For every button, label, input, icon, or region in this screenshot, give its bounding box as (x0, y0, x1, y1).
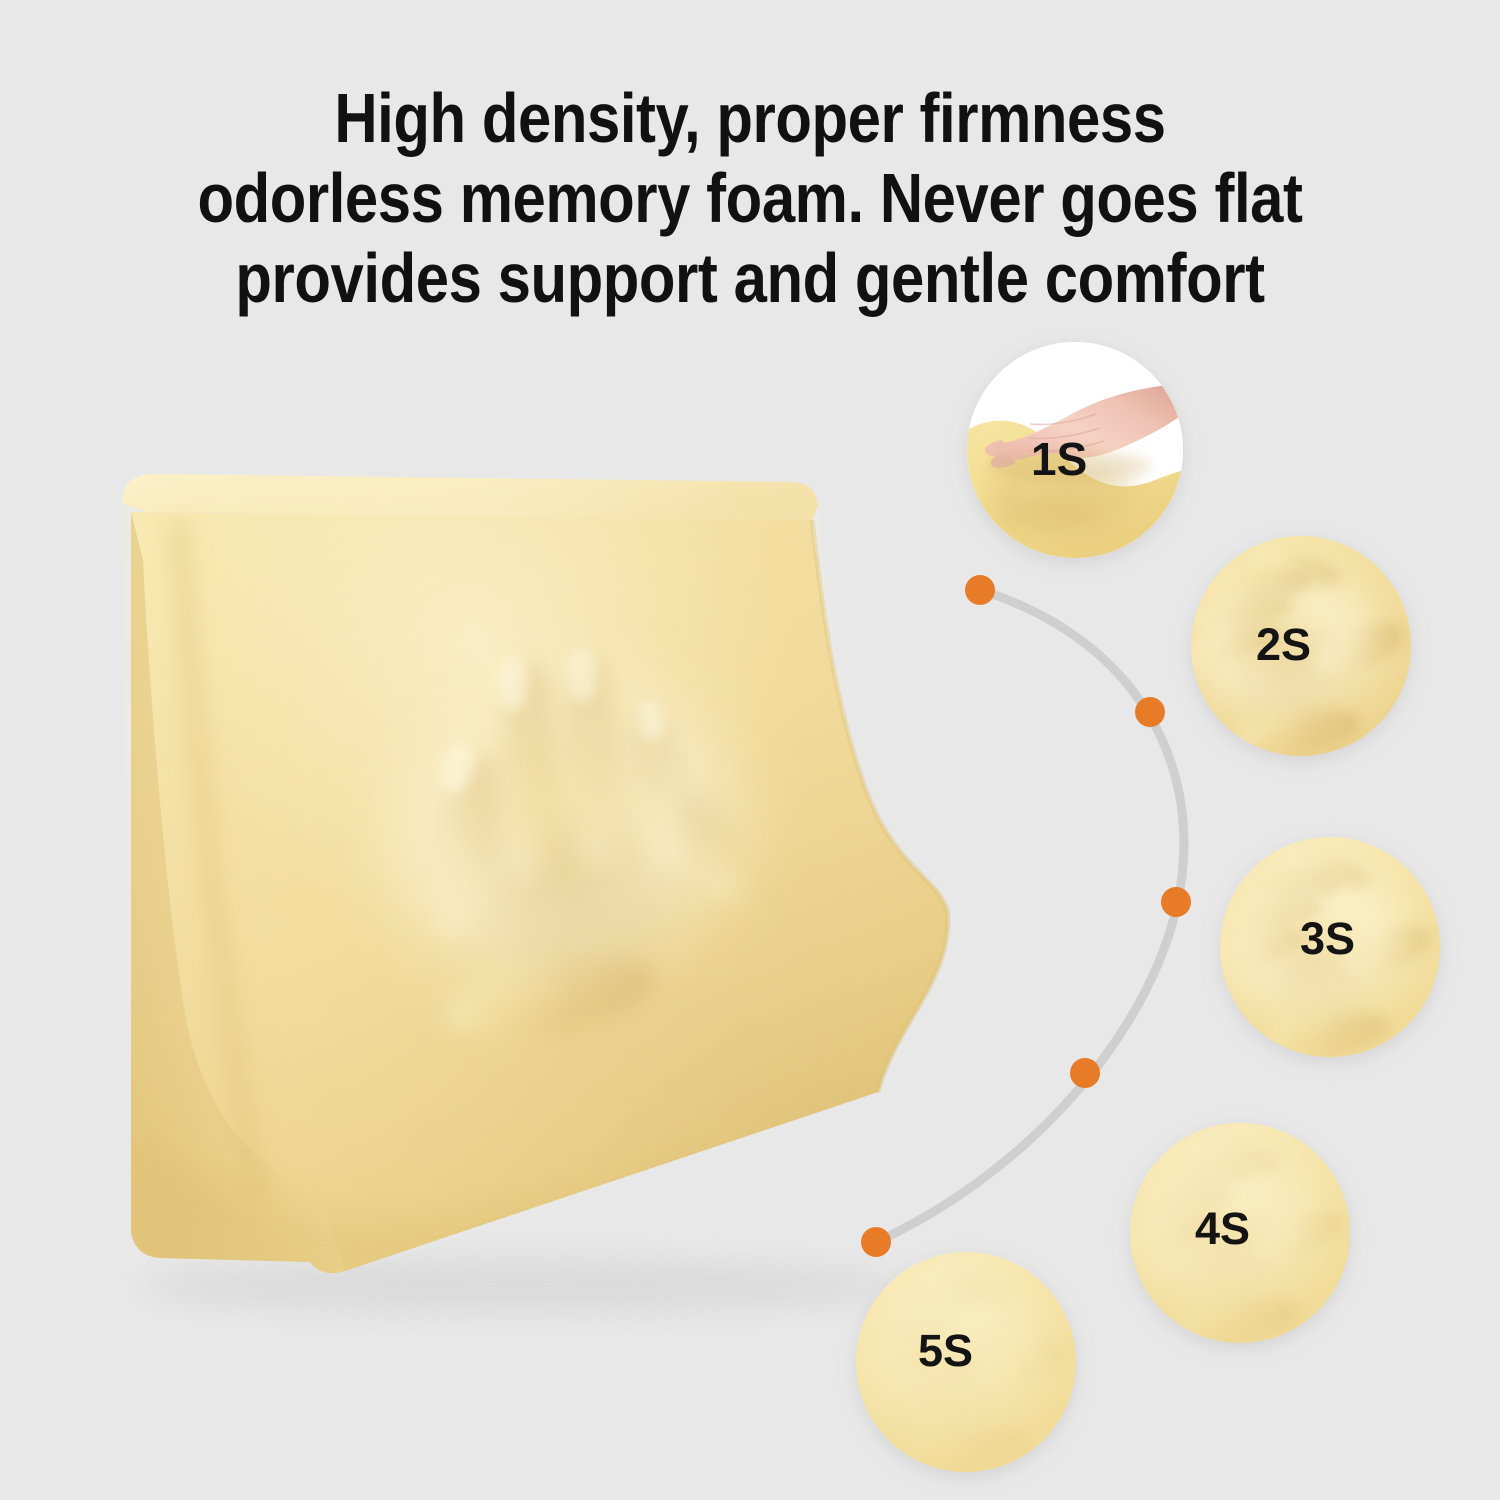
callout-bubble-2s (1172, 528, 1417, 767)
callout-bubble-4s (1112, 1116, 1357, 1355)
foam-wedge-cushion (110, 460, 980, 1312)
bubble-1s-compression-2 (988, 498, 1108, 534)
bubble-4s-handprint (1112, 1116, 1357, 1355)
bubble-2s-handprint (1172, 528, 1417, 767)
timeline-dot-4 (1070, 1058, 1100, 1088)
bubble-3s-handprint (1201, 830, 1446, 1069)
timeline-dot-2 (1135, 697, 1165, 727)
callout-bubble-3s (1201, 830, 1446, 1069)
callout-bubble-1s (967, 342, 1183, 558)
timeline-dot-1 (965, 575, 995, 605)
cushion-drop-shadow (140, 1260, 900, 1312)
timeline-dot-5 (861, 1227, 891, 1257)
timeline-dot-3 (1161, 887, 1191, 917)
product-illustration (0, 0, 1500, 1500)
feature-graphic-canvas: High density, proper firmness odorless m… (0, 0, 1500, 1500)
